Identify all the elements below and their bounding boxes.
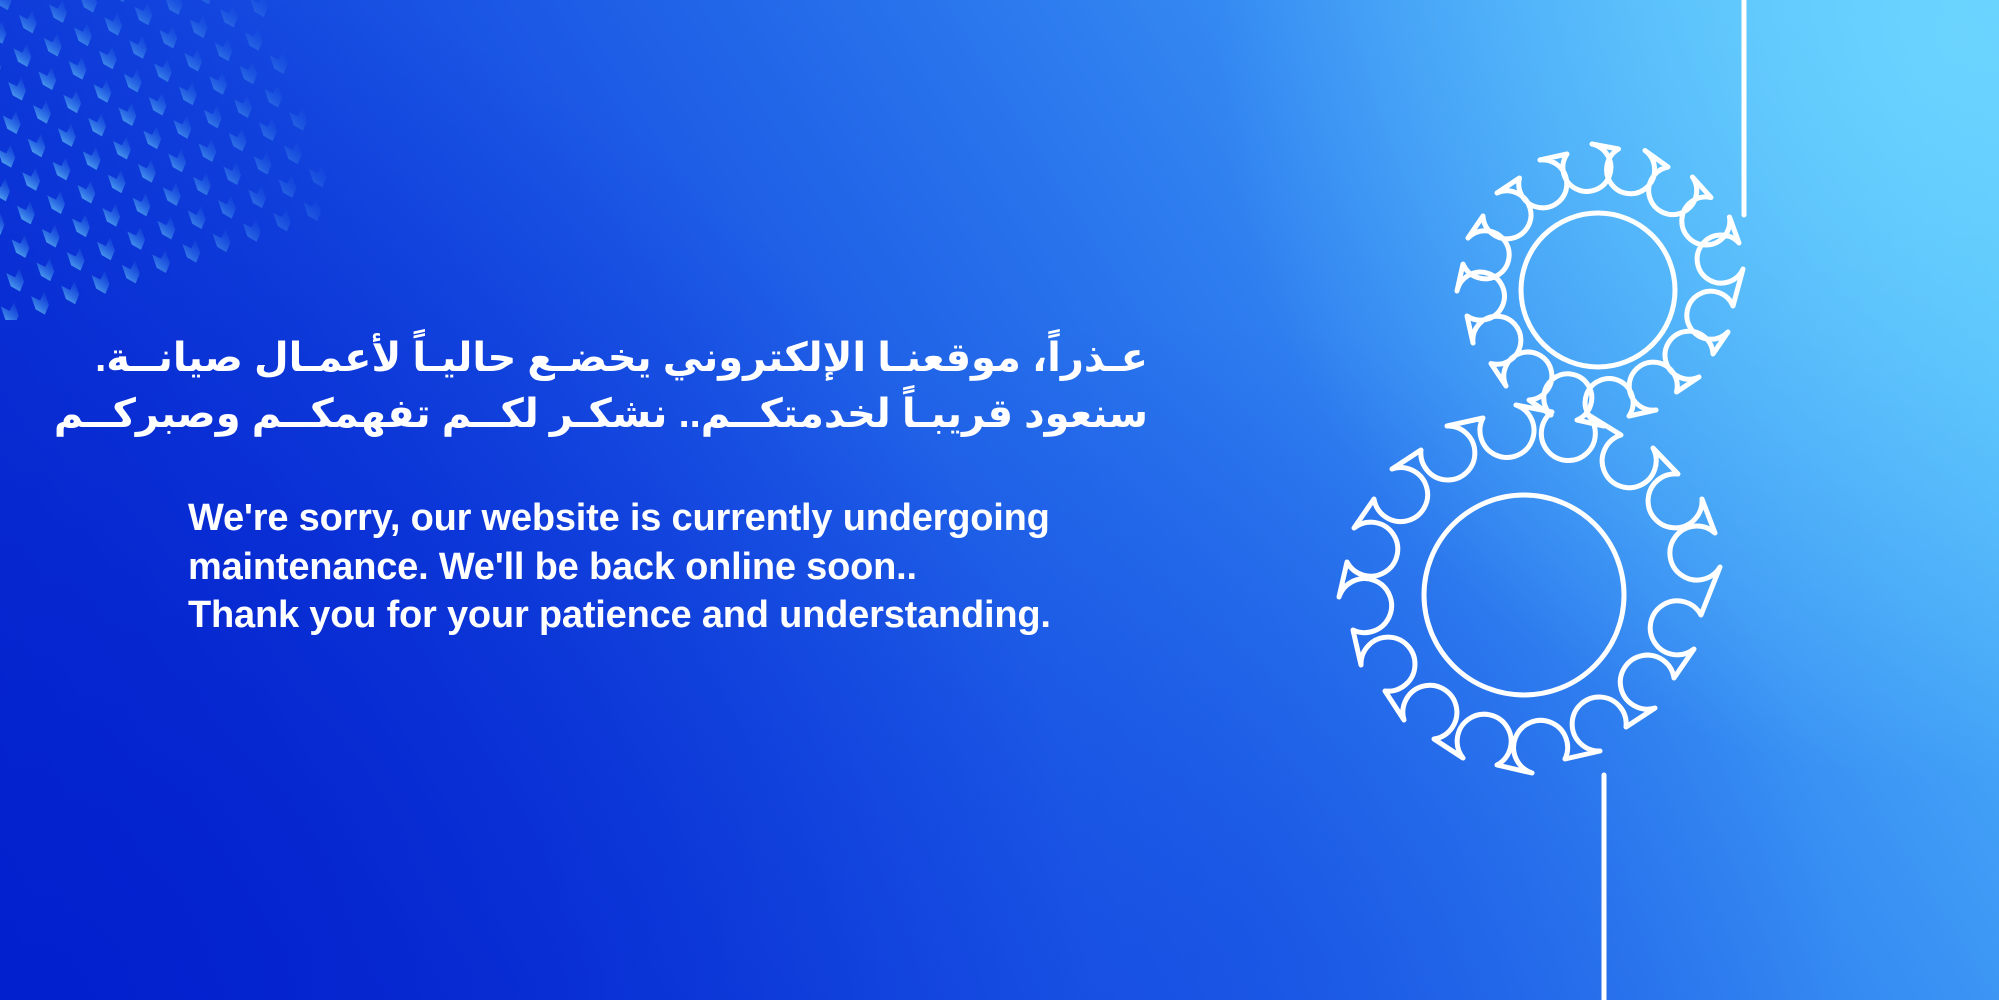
- arabic-line-1: عـذراً، موقعنـا الإلكتروني يخضـع حاليـاً…: [188, 330, 1148, 386]
- arabic-message: عـذراً، موقعنـا الإلكتروني يخضـع حاليـاً…: [188, 330, 1148, 442]
- english-line-2: maintenance. We'll be back online soon..: [188, 543, 1148, 592]
- english-message: We're sorry, our website is currently un…: [188, 494, 1148, 640]
- english-line-3: Thank you for your patience and understa…: [188, 591, 1148, 640]
- arabic-line-2: سنعود قريبـاً لخدمتكــم.. نشكـر لكــم تف…: [188, 386, 1148, 442]
- message-block: عـذراً، موقعنـا الإلكتروني يخضـع حاليـاً…: [188, 330, 1148, 640]
- maintenance-page: عـذراً، موقعنـا الإلكتروني يخضـع حاليـاً…: [0, 0, 1999, 1000]
- english-line-1: We're sorry, our website is currently un…: [188, 494, 1148, 543]
